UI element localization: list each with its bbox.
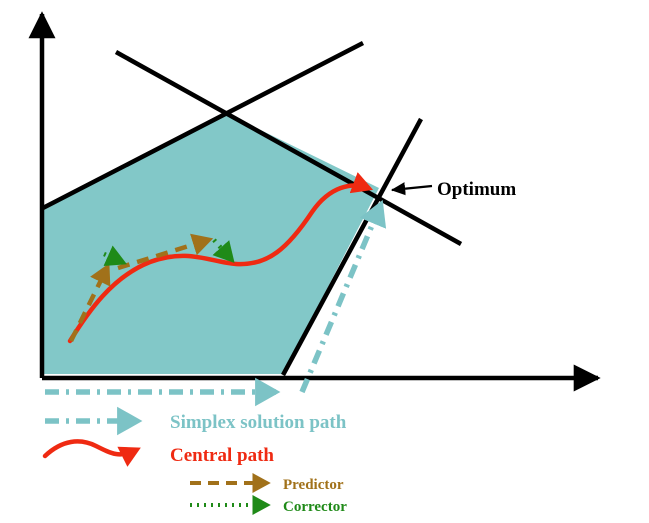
legend-central-path-sample-curve (45, 441, 136, 456)
legend-central-path-label: Central path (170, 445, 274, 466)
legend-entry-simplex[interactable]: Simplex solution path (45, 412, 347, 433)
legend: Simplex solution path Central path Predi… (45, 412, 347, 515)
optimum-annotation: Optimum (392, 179, 516, 200)
linear-program-diagram: Optimum Simplex solution path Central pa… (0, 0, 649, 523)
legend-entry-corrector[interactable]: Corrector (190, 499, 347, 515)
legend-corrector-label: Corrector (283, 499, 347, 515)
legend-simplex-label: Simplex solution path (170, 412, 347, 433)
legend-entry-predictor[interactable]: Predictor (190, 477, 344, 493)
legend-entry-central-path[interactable]: Central path (45, 441, 274, 466)
optimum-label: Optimum (437, 179, 516, 200)
figure-canvas: Optimum Simplex solution path Central pa… (0, 0, 649, 523)
optimum-pointer-line (392, 186, 432, 190)
legend-predictor-label: Predictor (283, 477, 344, 493)
